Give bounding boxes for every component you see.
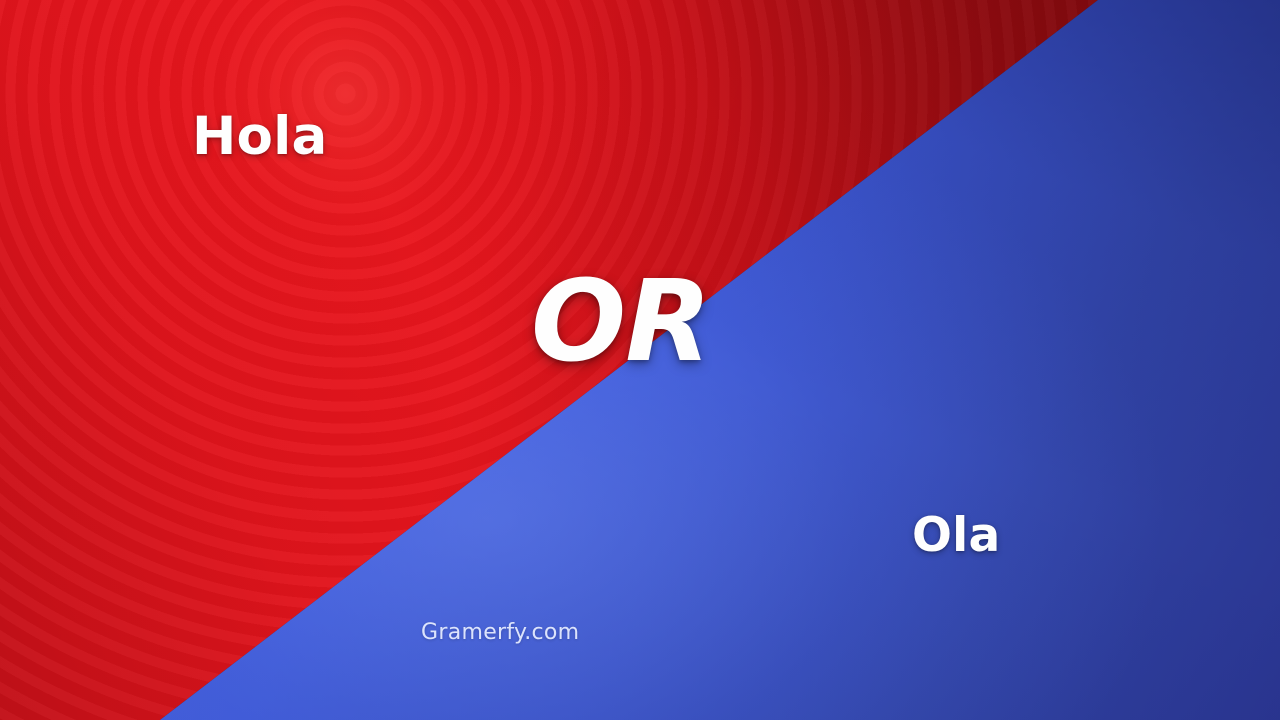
word-option-left: Hola (192, 110, 328, 163)
watermark-label: Gramerfy.com (421, 620, 579, 645)
comparison-graphic: Hola OR Ola Gramerfy.com (0, 0, 1280, 720)
word-option-right: Ola (912, 512, 1000, 559)
separator-or-label: OR (531, 266, 710, 378)
text-layer: Hola OR Ola Gramerfy.com (0, 0, 1280, 720)
